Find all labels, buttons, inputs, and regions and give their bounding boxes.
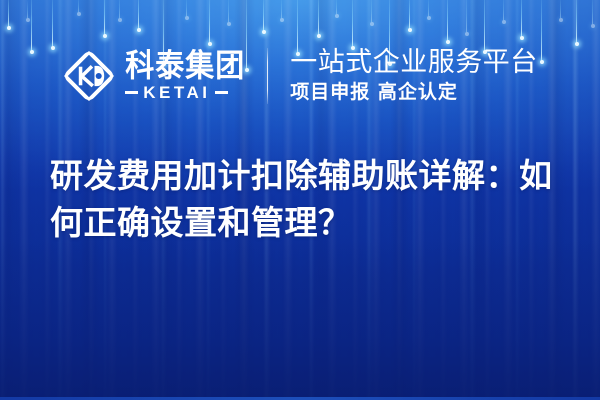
tagline-secondary: 项目申报 高企认定 xyxy=(290,81,538,104)
page-title-line-1: 研发费用加计扣除辅助账详解：如 xyxy=(50,152,566,199)
brand-tagline: 一站式企业服务平台 项目申报 高企认定 xyxy=(290,48,538,104)
page-title-line-2: 何正确设置和管理？ xyxy=(50,199,566,246)
brand-name-en: KETAI xyxy=(143,84,210,101)
brand-name-cn: 科泰集团 xyxy=(125,50,245,81)
banner-header: 科泰集团 KETAI 一站式企业服务平台 项目申报 高企认定 xyxy=(0,40,600,112)
ketai-diamond-monogram-icon xyxy=(62,49,116,103)
background-bottom-fade xyxy=(0,240,600,400)
brand-logo[interactable]: 科泰集团 KETAI xyxy=(62,49,245,103)
page-title: 研发费用加计扣除辅助账详解：如 何正确设置和管理？ xyxy=(50,152,566,246)
header-divider xyxy=(267,48,268,104)
logo-dash-right-icon xyxy=(215,91,228,94)
tagline-primary: 一站式企业服务平台 xyxy=(290,48,538,77)
logo-dash-left-icon xyxy=(125,91,138,94)
promo-banner: 科泰集团 KETAI 一站式企业服务平台 项目申报 高企认定 研发费用加计扣除辅… xyxy=(0,0,600,400)
brand-name-en-row: KETAI xyxy=(125,84,245,101)
brand-logo-text: 科泰集团 KETAI xyxy=(125,51,245,101)
